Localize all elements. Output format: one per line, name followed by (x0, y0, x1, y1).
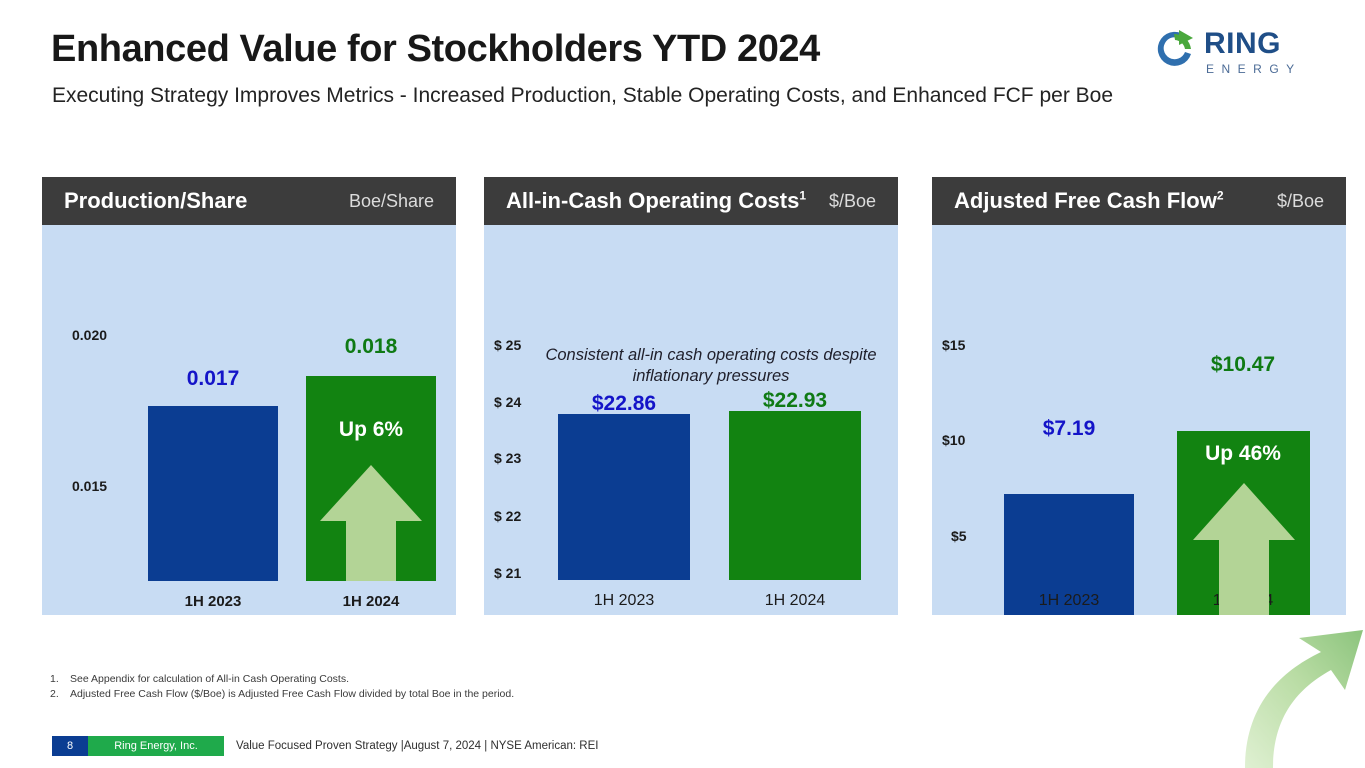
panel-header: All-in-Cash Operating Costs1 $/Boe (484, 177, 898, 225)
panel-unit: $/Boe (829, 191, 876, 212)
x-axis-label-1h-2023: 1H 2023 (594, 592, 655, 610)
circular-arrow-icon (1152, 28, 1202, 72)
bar-1h-2023 (148, 406, 278, 581)
chart-plot-area: $15 $10 $5 $0 $7.19 $10.47 Up 46% 1H 202… (932, 225, 1346, 615)
panel-unit: $/Boe (1277, 191, 1324, 212)
logo-subword: ENERGY (1206, 62, 1302, 76)
chart-panel-production-per-share: Production/Share Boe/Share 0.020 0.015 0… (42, 177, 456, 615)
chart-panel-adjusted-free-cash-flow: Adjusted Free Cash Flow2 $/Boe $15 $10 $… (932, 177, 1346, 615)
up-arrow-icon (1193, 483, 1295, 615)
x-axis-label-1h-2024: 1H 2024 (343, 593, 400, 610)
bar-value-1h-2024: $10.47 (1211, 353, 1275, 377)
decorative-curved-arrow-icon (1225, 618, 1365, 768)
company-badge: Ring Energy, Inc. (88, 736, 224, 756)
logo-wordmark: RING (1204, 27, 1281, 61)
footnote-1: 1. See Appendix for calculation of All-i… (50, 672, 950, 687)
y-axis-tick: 0.015 (72, 478, 107, 494)
bar-value-1h-2023: $22.86 (592, 392, 656, 416)
y-axis-tick: $15 (942, 337, 965, 353)
panel-header: Adjusted Free Cash Flow2 $/Boe (932, 177, 1346, 225)
footnote-number: 2. (50, 687, 70, 702)
page-title: Enhanced Value for Stockholders YTD 2024 (51, 28, 820, 71)
chart-plot-area: 0.020 0.015 0.010 0.017 0.018 Up 6% 1H 2… (42, 225, 456, 615)
panel-unit: Boe/Share (349, 191, 434, 212)
panel-header: Production/Share Boe/Share (42, 177, 456, 225)
page-subtitle: Executing Strategy Improves Metrics - In… (52, 84, 1113, 108)
panel-title: Production/Share (64, 188, 247, 214)
bar-value-1h-2023: $7.19 (1043, 417, 1096, 441)
ring-energy-logo: RING ENERGY (1152, 26, 1307, 74)
footnotes: 1. See Appendix for calculation of All-i… (50, 672, 950, 702)
x-axis-label-1h-2023: 1H 2023 (1039, 592, 1100, 610)
footnote-text: See Appendix for calculation of All-in C… (70, 672, 349, 687)
y-axis-tick: 0.020 (72, 327, 107, 343)
bar-1h-2023 (558, 414, 690, 580)
bar-value-1h-2024: 0.018 (345, 335, 398, 359)
y-axis-tick: $10 (942, 432, 965, 448)
bar-value-1h-2023: 0.017 (187, 367, 240, 391)
y-axis-tick: $ 21 (494, 565, 521, 581)
x-axis-label-1h-2023: 1H 2023 (185, 593, 242, 610)
panel-title: Adjusted Free Cash Flow2 (954, 188, 1224, 214)
callout-up-percent: Up 46% (1205, 442, 1281, 466)
up-arrow-icon (320, 465, 422, 581)
slide-footer: 8 Ring Energy, Inc. Value Focused Proven… (52, 736, 598, 756)
bar-1h-2024 (729, 411, 861, 580)
y-axis-tick: $5 (951, 528, 967, 544)
page-number-badge: 8 (52, 736, 88, 756)
bar-value-1h-2024: $22.93 (763, 389, 827, 413)
footer-tagline: Value Focused Proven Strategy |August 7,… (236, 736, 598, 756)
panel-title-footnote-ref: 2 (1217, 189, 1224, 203)
footnote-number: 1. (50, 672, 70, 687)
panel-title-footnote-ref: 1 (799, 189, 806, 203)
y-axis-tick: $ 23 (494, 450, 521, 466)
y-axis-tick: $ 25 (494, 337, 521, 353)
panel-title: All-in-Cash Operating Costs1 (506, 188, 806, 214)
x-axis-label-1h-2024: 1H 2024 (765, 592, 826, 610)
footnote-text: Adjusted Free Cash Flow ($/Boe) is Adjus… (70, 687, 514, 702)
chart-panel-all-in-cash-operating-costs: All-in-Cash Operating Costs1 $/Boe $ 25 … (484, 177, 898, 615)
footnote-2: 2. Adjusted Free Cash Flow ($/Boe) is Ad… (50, 687, 950, 702)
callout-up-percent: Up 6% (339, 418, 403, 442)
chart-annotation: Consistent all-in cash operating costs d… (536, 345, 886, 388)
y-axis-tick: $ 24 (494, 394, 521, 410)
y-axis-tick: $ 22 (494, 508, 521, 524)
slide-header: Enhanced Value for Stockholders YTD 2024… (0, 0, 1365, 130)
chart-plot-area: $ 25 $ 24 $ 23 $ 22 $ 21 $ 20 Consistent… (484, 225, 898, 615)
